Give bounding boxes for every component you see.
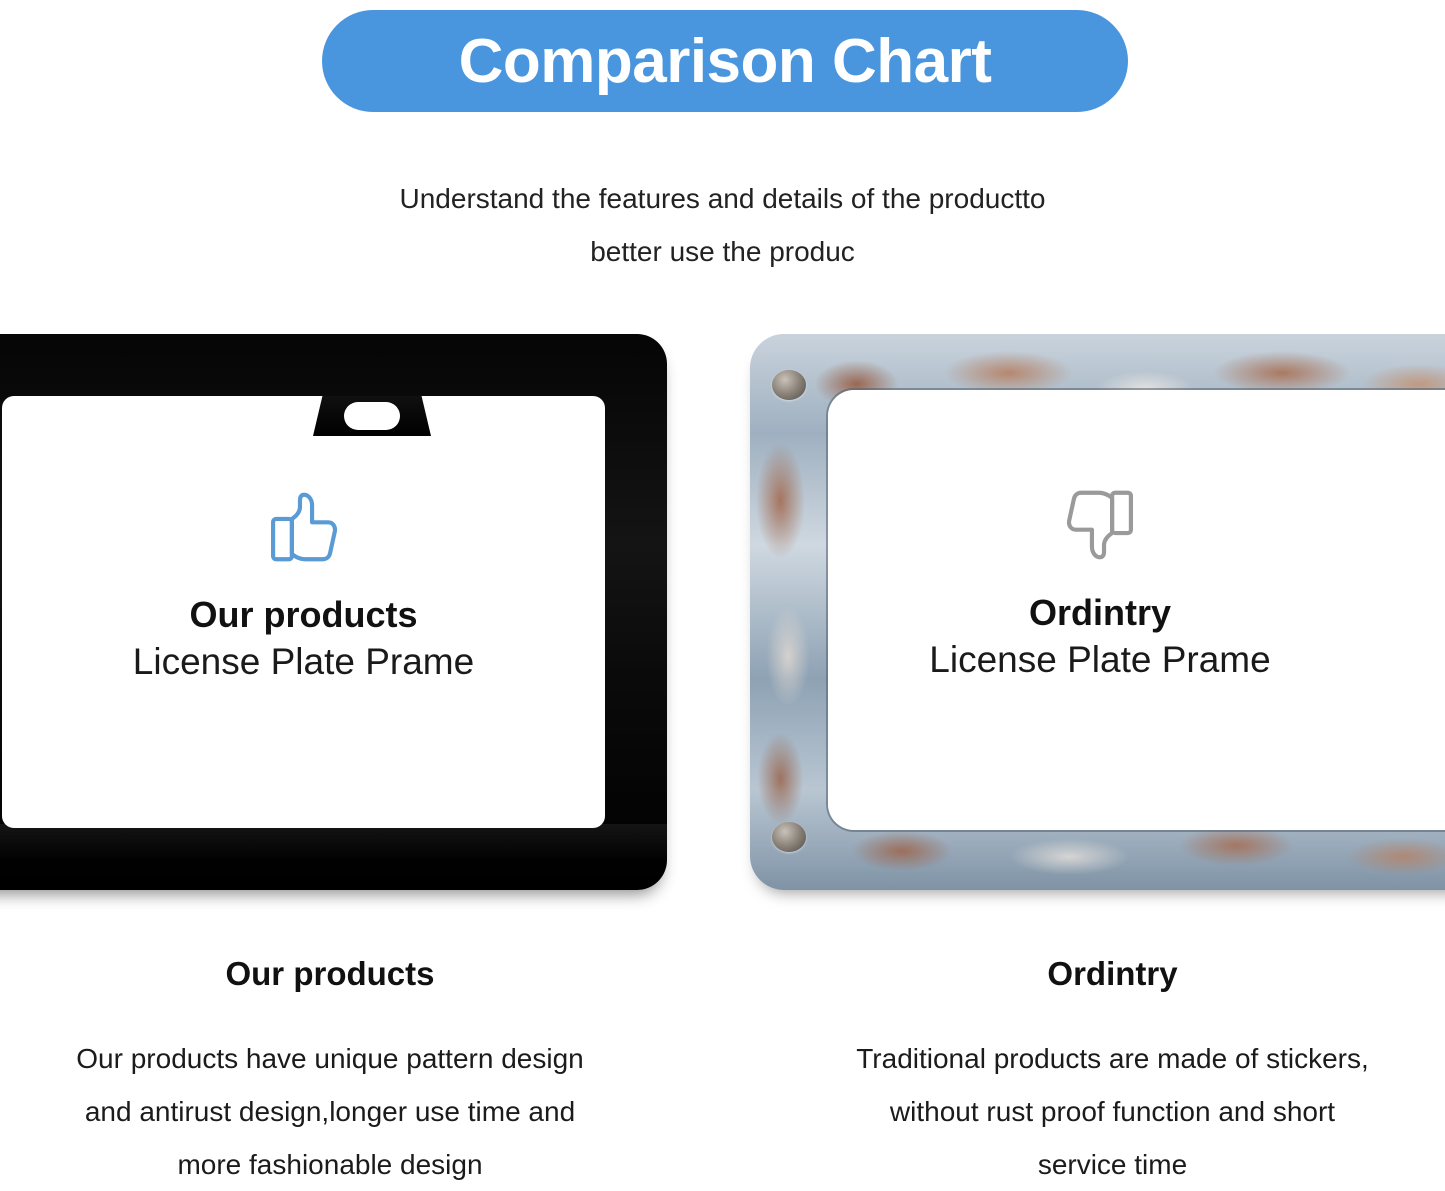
description-line: service time	[780, 1138, 1445, 1191]
subtitle-line-1: Understand the features and details of t…	[0, 172, 1445, 225]
our-product-description-body: Our products have unique pattern design …	[0, 1032, 660, 1191]
description-line: without rust proof function and short	[780, 1085, 1445, 1138]
screw-hole-icon	[772, 370, 806, 400]
screw-hole-icon	[772, 822, 806, 852]
subtitle-block: Understand the features and details of t…	[0, 172, 1445, 278]
our-product-heading: Our products	[0, 594, 667, 635]
our-product-description-title: Our products	[0, 954, 660, 994]
ordinary-product-description-title: Ordintry	[780, 954, 1445, 994]
black-frame-notch-hole	[344, 402, 400, 430]
ordinary-product-frame-panel: Ordintry License Plate Prame	[750, 334, 1445, 890]
ordinary-product-description-body: Traditional products are made of sticker…	[780, 1032, 1445, 1191]
subtitle-line-2: better use the produc	[0, 225, 1445, 278]
header-banner: Comparison Chart	[322, 10, 1128, 112]
ordinary-product-heading: Ordintry	[750, 592, 1445, 633]
comparison-frames-row: Our products License Plate Prame Ordintr…	[0, 330, 1445, 895]
description-line: and antirust design,longer use time and	[0, 1085, 660, 1138]
ordinary-product-description-column: Ordintry Traditional products are made o…	[780, 940, 1445, 1191]
page-title: Comparison Chart	[459, 26, 992, 97]
description-line: Our products have unique pattern design	[0, 1032, 660, 1085]
our-product-subheading: License Plate Prame	[0, 641, 667, 684]
our-product-inner-content: Our products License Plate Prame	[0, 484, 667, 684]
ordinary-product-inner-content: Ordintry License Plate Prame	[750, 482, 1445, 682]
ordinary-product-subheading: License Plate Prame	[750, 639, 1445, 682]
description-line: more fashionable design	[0, 1138, 660, 1191]
our-product-frame-panel: Our products License Plate Prame	[0, 334, 667, 890]
thumbs-up-icon	[261, 484, 347, 570]
description-line: Traditional products are made of sticker…	[780, 1032, 1445, 1085]
descriptions-row: Our products Our products have unique pa…	[0, 940, 1445, 1181]
thumbs-down-icon	[1057, 482, 1143, 568]
our-product-description-column: Our products Our products have unique pa…	[0, 940, 660, 1191]
